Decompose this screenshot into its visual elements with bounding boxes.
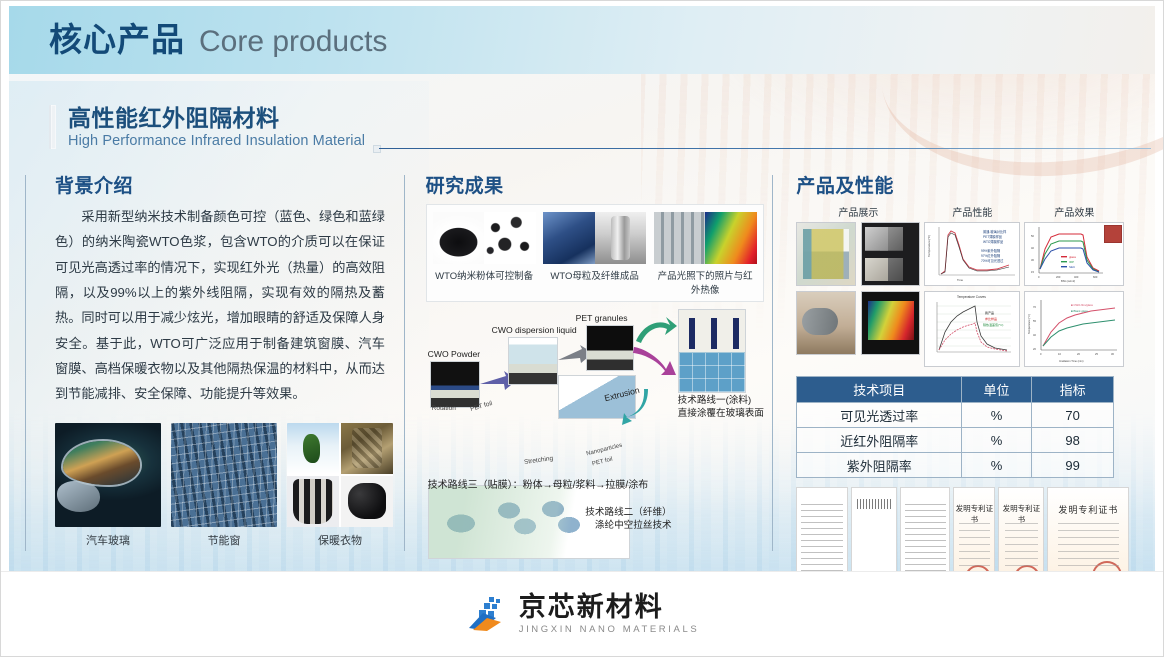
chart-performance-svg: 普通-玻璃对比样PET薄膜样品WTO薄膜样品 99%紫外阻隔97%红外阻隔70%… [925,223,1019,283]
cwo-dispersion-photo [508,337,558,385]
logo-mark-svg [465,596,509,632]
chart-insulation-svg: ■ CWO-film/glass ■ Blank glass 010202530… [1025,292,1123,364]
pixel-swoosh-logo-icon [465,596,509,632]
spec-value-nir-blocking: 98 [1031,428,1113,453]
powder-dish-photo [433,212,485,264]
application-item-clothing: 保暖衣物 [287,423,393,548]
svg-text:Time: Time [957,278,964,282]
spec-header-unit: 单位 [962,377,1032,403]
svg-text:400: 400 [1074,275,1079,279]
column-background-intro: 背景介绍 采用新型纳米技术制备颜色可控（蓝色、绿色和蓝绿色）的纳米陶瓷WTO色浆… [25,171,404,561]
svg-text:Irradiation Time (min): Irradiation Time (min) [1059,359,1084,363]
table-row: 近红外阻隔率 % 98 [797,428,1114,453]
application-caption-car: 汽车玻璃 [55,532,161,548]
cwo-powder-photo [430,361,480,408]
powder-grain-photo [484,212,536,264]
flow-label-pet-granules: PET granules [576,313,628,323]
column-title-product: 产品及性能 [796,171,1145,198]
page-title-en: Core products [199,27,387,57]
spec-table-header-row: 技术项目 单位 指标 [797,377,1114,403]
route-2-line1: 技术路线二（纤维） [585,507,671,518]
spec-item-uv-blocking: 紫外阻隔率 [797,453,962,478]
svg-text:隔热温差值(°C): 隔热温差值(°C) [983,322,1003,327]
column-divider-left [25,175,26,551]
fiber-bobbin-photo [595,212,647,264]
stretch-label-pet-foil-2: PET foil [591,457,613,468]
research-results-panel: WTO纳米粉体可控制备 WTO母粒及纤维成品 [426,204,764,302]
slide-header-band: 核心产品 Core products [9,6,1155,74]
column-title-research: 研究成果 [426,171,773,198]
stretch-label-stretching: Stretching [523,455,553,466]
page-title-cn: 核心产品 [49,23,185,56]
svg-text:BSG (w/m2): BSG (w/m2) [1061,279,1075,283]
presentation-slide: 核心产品 Core products 高性能红外阻隔材料 High Perfor… [0,0,1164,657]
svg-text:600: 600 [1093,275,1098,279]
energy-saving-curtain-wall-photo [171,423,277,527]
route-2-label: 技术路线二（纤维） 涤纶中空拉丝技术 [578,507,672,533]
svg-text:参比样品: 参比样品 [985,316,997,321]
section-title-block: 高性能红外阻隔材料 High Performance Infrared Insu… [49,105,365,149]
route-3-label: 技术路线三（贴膜）：粉体→母粒/浆料→拉膜/涂布 [428,479,649,493]
subhead-product-performance: 产品性能 [924,204,1020,219]
svg-text:glass: glass [1069,255,1077,259]
column-product-performance: 产品及性能 产品展示 产品性能 [772,171,1145,561]
svg-text:■ Blank glass: ■ Blank glass [1071,309,1088,313]
spec-table: 技术项目 单位 指标 可见光透过率 % 70 近红外阻隔率 % 98 [796,376,1114,478]
svg-text:IRP: IRP [1069,260,1074,264]
window-daylight-photo [654,212,706,264]
wto-nano-powder-photo [433,212,536,264]
svg-text:我产品: 我产品 [985,310,994,315]
research-caption-powder: WTO纳米粉体可控制备 [433,268,536,282]
product-effect-group: 产品效果 glass IRP SEC [1024,204,1124,367]
infrared-thermal-image [705,212,757,264]
svg-text:Temperature Curves: Temperature Curves [957,295,986,299]
content-columns: 背景介绍 采用新型纳米技术制备颜色可控（蓝色、绿色和蓝绿色）的纳米陶瓷WTO色浆… [25,171,1145,561]
car-window-glass-photo [55,423,161,527]
application-photo-row: 汽车玻璃 节能窗 保暖衣物 [55,423,404,548]
svg-text:70%可见光透过: 70%可见光透过 [981,258,1004,263]
chart-effect-svg: glass IRP SEC 0200400600 15304050 BSG (w… [1025,223,1123,283]
spec-value-uv-blocking: 99 [1031,453,1113,478]
route-1-line2: 直接涂覆在玻璃表面 [678,408,764,419]
column-divider-middle [404,175,405,551]
process-flow-diagram: CWO Powder CWO dispersion liquid PET gra… [426,309,773,537]
research-item-masterbatch: WTO母粒及纤维成品 [543,212,646,296]
snowboarder-photo [287,423,339,474]
subhead-product-effect: 产品效果 [1024,204,1124,219]
knee-pads-photo [287,476,339,527]
spec-unit-uv-blocking: % [962,453,1032,478]
chart-temperature-curves-svg: Temperature Curves 我产品 [925,292,1019,364]
svg-text:97%红外阻隔: 97%红外阻隔 [981,253,1001,258]
table-row: 可见光透过率 % 70 [797,403,1114,428]
product-subheads: 产品展示 产品性能 [796,204,1145,367]
flow-arrow-fiber-icon [632,345,678,379]
thermal-clothing-photo [287,423,393,527]
application-caption-clothing: 保暖衣物 [287,532,393,548]
patent-title-2: 发明专利证书 [999,503,1043,525]
irradiation-photo-and-thermal-image [654,212,757,264]
product-performance-group: 产品性能 普通-玻璃对比样PET薄膜样品WTO薄膜样品 99%紫外阻隔97%红外… [924,204,1020,367]
logo-name-cn: 京芯新材料 [519,594,700,621]
packaged-material-photo [861,222,921,286]
svg-text:Temperature (°C): Temperature (°C) [1027,314,1031,334]
spec-item-visible-transmittance: 可见光透过率 [797,403,962,428]
pet-granules-photo [586,325,634,371]
svg-text:■ CWO-film/glass: ■ CWO-film/glass [1071,303,1093,307]
thermal-camera-photo [861,291,921,355]
section-title-cn: 高性能红外阻隔材料 [68,105,365,131]
research-item-powder: WTO纳米粉体可控制备 [433,212,536,296]
chart-insulation-time-temperature: ■ CWO-film/glass ■ Blank glass 010202530… [1024,291,1124,367]
route-1-line1: 技术路线一(涂料) [678,395,752,406]
wto-masterbatch-fiber-photo [543,212,646,264]
column-title-background: 背景介绍 [55,171,404,198]
winter-jacket-photo [341,423,393,474]
spec-header-item: 技术项目 [797,377,962,403]
research-caption-thermal: 产品光照下的照片与红外热像 [654,268,757,296]
blue-masterbatch-photo [543,212,595,264]
chart-performance-temperature-curve: 普通-玻璃对比样PET薄膜样品WTO薄膜样品 99%紫外阻隔97%红外阻隔70%… [924,222,1020,286]
glass-samples-photo [796,222,856,286]
table-row: 紫外阻隔率 % 99 [797,453,1114,478]
application-caption-window: 节能窗 [171,532,277,548]
column-divider-right [772,175,773,551]
coating-vials-and-tiles-photo [678,309,746,393]
stretch-label-nanoparticles: Nanoparticles [585,443,622,458]
product-display-photos [796,222,920,355]
section-divider-rule [379,148,1151,149]
flow-label-dispersion: CWO dispersion liquid [492,325,577,335]
gloves-photo [341,476,393,527]
spec-unit-visible-transmittance: % [962,403,1032,428]
logo-name-en: JINGXIN NANO MATERIALS [519,624,700,635]
research-results-row: WTO纳米粉体可控制备 WTO母粒及纤维成品 [433,212,757,296]
spec-value-visible-transmittance: 70 [1031,403,1113,428]
research-item-thermal: 产品光照下的照片与红外热像 [654,212,757,296]
patent-title-1: 发明专利证书 [954,503,994,525]
slide-footer: 京芯新材料 JINGXIN NANO MATERIALS [1,571,1163,656]
rule-end-dot [373,145,381,153]
patent-title-3: 发明专利证书 [1048,503,1128,516]
svg-text:WTO薄膜样品: WTO薄膜样品 [983,239,1003,244]
flow-arrow-coating-icon [634,315,678,345]
route-1-label: 技术路线一(涂料) 直接涂覆在玻璃表面 [678,395,764,421]
svg-text:PET薄膜样品: PET薄膜样品 [983,234,1002,239]
svg-text:Temperature(°C): Temperature(°C) [927,235,931,257]
spec-header-value: 指标 [1031,377,1113,403]
column-research-results: 研究成果 WTO纳米粉体可控制备 [404,171,773,561]
stretch-label-rotation: Rotation [432,405,456,412]
section-accent-bar [49,105,56,149]
flow-label-cwo-powder: CWO Powder [428,349,481,359]
flow-arrow-down-icon [622,387,652,429]
svg-text:99%紫外阻隔: 99%紫外阻隔 [981,248,1001,253]
application-item-car: 汽车玻璃 [55,423,161,548]
svg-text:普通-玻璃对比样: 普通-玻璃对比样 [983,229,1007,234]
spec-item-nir-blocking: 近红外阻隔率 [797,428,962,453]
subhead-product-display: 产品展示 [796,204,920,219]
spec-unit-nir-blocking: % [962,428,1032,453]
page-title: 核心产品 Core products [49,23,387,57]
route-2-line2: 涤纶中空拉丝技术 [595,520,672,531]
research-caption-masterbatch: WTO母粒及纤维成品 [543,268,646,282]
svg-text:200: 200 [1056,275,1061,279]
company-logo: 京芯新材料 JINGXIN NANO MATERIALS [465,594,700,635]
background-paragraph: 采用新型纳米技术制备颜色可控（蓝色、绿色和蓝绿色）的纳米陶瓷WTO色浆，包含WT… [55,204,385,407]
section-title-en: High Performance Infrared Insulation Mat… [68,133,365,149]
application-item-window: 节能窗 [171,423,277,548]
svg-text:SEC: SEC [1069,265,1076,269]
arm-sleeve-test-photo [796,291,856,355]
product-display-group: 产品展示 [796,204,920,367]
logo-text-block: 京芯新材料 JINGXIN NANO MATERIALS [519,594,700,635]
chart-product-effect-transmittance: glass IRP SEC 0200400600 15304050 BSG (w… [1024,222,1124,286]
chart-temperature-curves: Temperature Curves 我产品 [924,291,1020,367]
